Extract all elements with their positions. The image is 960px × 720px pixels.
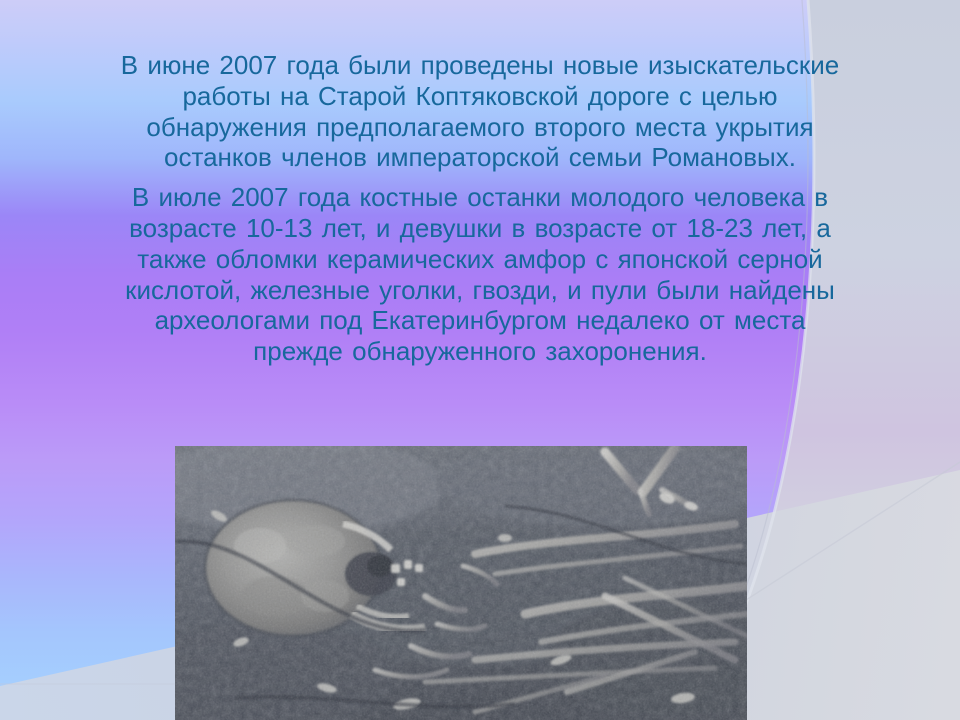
excavation-photo-image — [175, 446, 747, 720]
excavation-photo — [175, 446, 747, 720]
slide-body-text: В июне 2007 года были проведены новые из… — [118, 50, 842, 370]
paragraph-1: В июне 2007 года были проведены новые из… — [118, 50, 842, 173]
presentation-slide: В июне 2007 года были проведены новые из… — [0, 0, 960, 720]
paragraph-2: В июле 2007 года костные останки молодог… — [118, 182, 842, 367]
